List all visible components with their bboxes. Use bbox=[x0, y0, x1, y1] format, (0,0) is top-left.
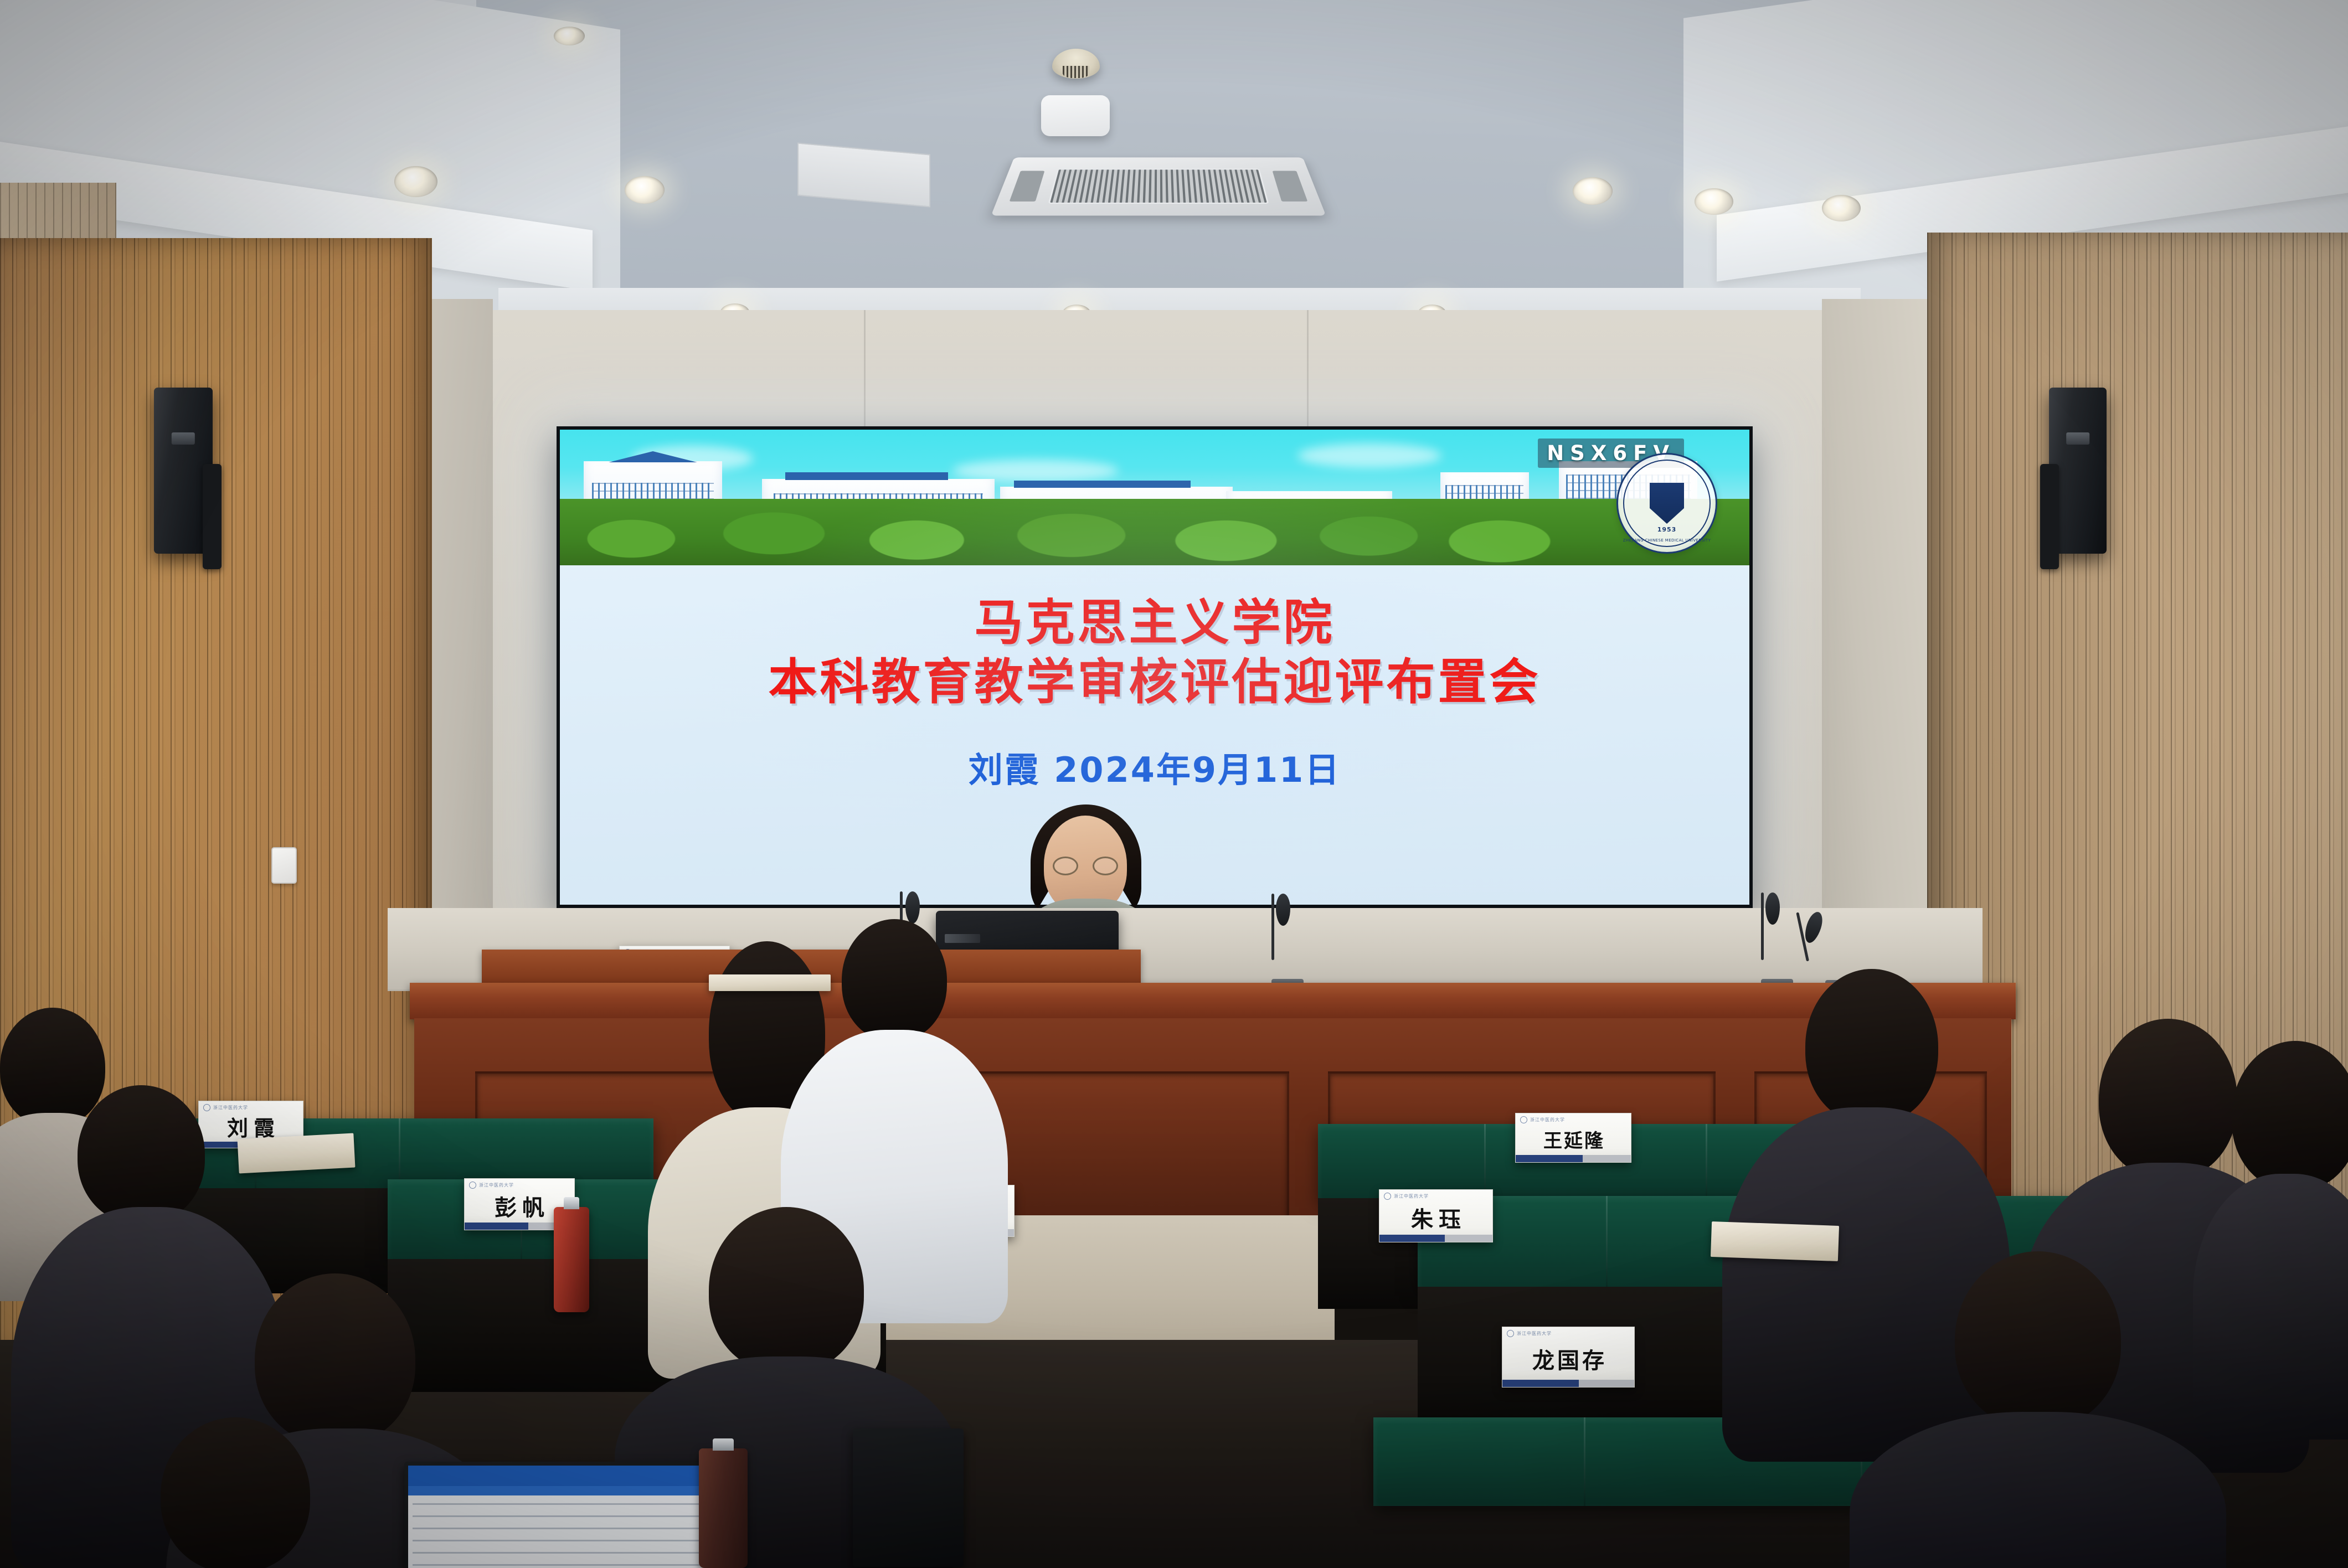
campus-trees bbox=[560, 499, 1749, 565]
emblem-english-name: ZHEJIANG CHINESE MEDICAL UNIVERSITY bbox=[1618, 538, 1716, 543]
emblem-year: 1953 bbox=[1618, 526, 1716, 533]
jbl-logo-icon bbox=[2066, 432, 2089, 445]
university-emblem-icon: 1953 ZHEJIANG CHINESE MEDICAL UNIVERSITY bbox=[1616, 453, 1717, 554]
audience-person-center-3 bbox=[66, 1417, 377, 1568]
air-conditioner-cassette bbox=[991, 157, 1326, 215]
speaker-right bbox=[2049, 388, 2107, 554]
placard-university: 浙江中医药大学 bbox=[1394, 1193, 1429, 1199]
placard-wangyanlong: 浙江中医药大学 王延隆 bbox=[1515, 1113, 1631, 1163]
document-text-lines bbox=[413, 1498, 706, 1566]
university-logo-icon bbox=[1507, 1330, 1514, 1337]
slide-title-line1: 马克思主义学院 bbox=[974, 594, 1335, 652]
document-on-screen bbox=[408, 1466, 710, 1568]
jbl-logo-icon bbox=[172, 432, 195, 445]
audience-person-right-edge bbox=[2215, 1041, 2348, 1428]
downlight-icon bbox=[1573, 177, 1613, 205]
document-toolbar bbox=[408, 1466, 710, 1486]
slide-title-line2: 本科教育教学审核评估迎评布置会 bbox=[768, 652, 1541, 712]
speaker-bracket bbox=[203, 464, 222, 569]
water-bottle-foreground[interactable] bbox=[699, 1448, 748, 1568]
speaker-bracket bbox=[2040, 464, 2059, 569]
light-switch[interactable] bbox=[271, 847, 297, 884]
university-logo-icon bbox=[469, 1182, 476, 1189]
placard-university: 浙江中医药大学 bbox=[1530, 1117, 1565, 1123]
water-bottle-red[interactable] bbox=[554, 1207, 589, 1312]
placard-name: 龙国存 bbox=[1502, 1337, 1634, 1380]
placard-name: 朱珏 bbox=[1379, 1200, 1492, 1235]
papers-on-podium bbox=[709, 974, 831, 991]
audience-person-far-right bbox=[1861, 1251, 2204, 1568]
campus-photo-banner: NSX6FV 1953 ZHEJIANG CHINESE MEDICAL UNI… bbox=[560, 430, 1749, 565]
university-logo-icon bbox=[1520, 1116, 1527, 1123]
notebook-left bbox=[238, 1133, 356, 1174]
speaker-left bbox=[154, 388, 213, 554]
bottle-cap bbox=[564, 1197, 579, 1209]
conference-room-scene: NSX6FV 1953 ZHEJIANG CHINESE MEDICAL UNI… bbox=[0, 0, 2348, 1568]
bottle-cap bbox=[713, 1438, 734, 1451]
placard-zhujue: 浙江中医药大学 朱珏 bbox=[1379, 1189, 1493, 1242]
document-ribbon bbox=[408, 1486, 710, 1495]
motion-sensor-icon bbox=[1041, 95, 1110, 136]
glasses-icon bbox=[1053, 857, 1118, 875]
downlight-icon bbox=[1695, 188, 1733, 215]
slide-subtitle: 刘霞 2024年9月11日 bbox=[969, 742, 1341, 792]
placard-name: 王延隆 bbox=[1516, 1123, 1631, 1155]
audience-laptop-left[interactable] bbox=[853, 1428, 964, 1567]
placard-longguocun: 浙江中医药大学 龙国存 bbox=[1502, 1327, 1635, 1388]
placard-university: 浙江中医药大学 bbox=[479, 1182, 514, 1188]
university-logo-icon bbox=[1384, 1193, 1391, 1200]
microphone-podium-center bbox=[1271, 894, 1305, 993]
notebook-right bbox=[1711, 1221, 1839, 1261]
downlight-icon bbox=[394, 166, 437, 197]
downlight-icon bbox=[554, 27, 585, 45]
audience-laptop-front[interactable] bbox=[404, 1462, 714, 1568]
downlight-icon bbox=[1822, 195, 1861, 221]
placard-university: 浙江中医药大学 bbox=[1517, 1330, 1552, 1337]
downlight-icon bbox=[625, 176, 665, 204]
